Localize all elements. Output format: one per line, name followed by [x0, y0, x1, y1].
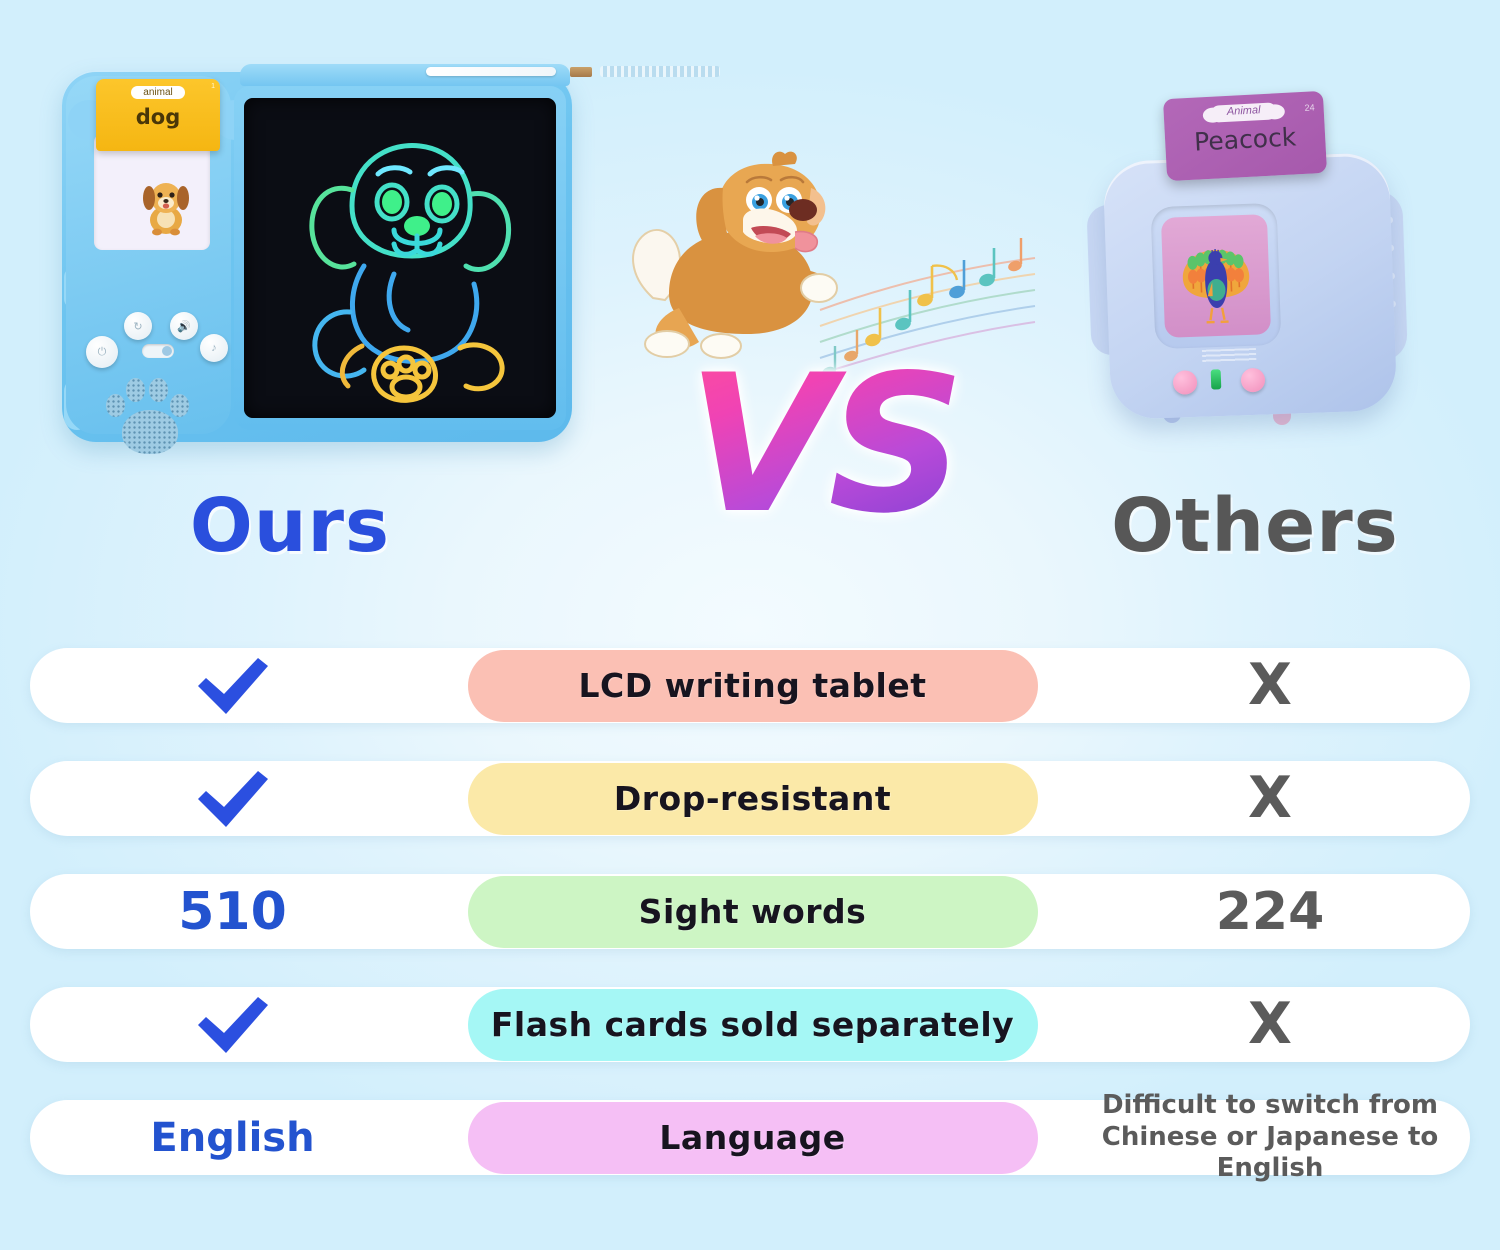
x-icon: X: [1248, 996, 1292, 1053]
paw-speaker-icon: [104, 376, 198, 458]
table-row: LCD writing tablet X: [30, 648, 1470, 723]
toy-button-row: ⏻ ↻ 🔊 ♪: [80, 312, 232, 372]
feature-cell: LCD writing tablet: [435, 650, 1070, 722]
power-led-indicator: [1211, 369, 1222, 389]
table-row: English Language Difficult to switch fro…: [30, 1100, 1470, 1175]
others-cell: 224: [1070, 882, 1470, 942]
lcd-dog-drawing: [244, 98, 556, 418]
paw-pad: [122, 410, 178, 454]
card-dog-illustration: [138, 176, 194, 236]
ours-cell: [30, 656, 435, 716]
device-button-right[interactable]: [1241, 368, 1266, 393]
check-icon: [194, 656, 272, 716]
device-screen-frame: [1151, 203, 1282, 349]
table-row: Drop-resistant X: [30, 761, 1470, 836]
lock-slider[interactable]: [142, 344, 174, 358]
lcd-screen[interactable]: [244, 98, 556, 418]
feature-cell: Drop-resistant: [435, 763, 1070, 835]
repeat-button[interactable]: ↻: [124, 312, 152, 340]
ours-value: 510: [178, 882, 287, 942]
flash-card-category: Animal: [1210, 103, 1277, 118]
comparison-infographic: 1 animal dog ⏻ ↻ 🔊 ♪: [0, 0, 1500, 1250]
table-row: Flash cards sold separately X: [30, 987, 1470, 1062]
paw-toe: [106, 394, 125, 417]
others-cell: Difficult to switch from Chinese or Japa…: [1070, 1090, 1470, 1185]
check-icon: [194, 769, 272, 829]
x-icon: X: [1248, 657, 1292, 714]
feature-pill: Flash cards sold separately: [468, 989, 1038, 1061]
vs-label: VS: [673, 345, 973, 545]
others-cell: X: [1070, 657, 1470, 714]
mode-button[interactable]: ♪: [200, 334, 228, 362]
ours-cell: [30, 769, 435, 829]
stylus-tray: [240, 64, 570, 86]
stylus-pen[interactable]: [426, 67, 556, 76]
power-button[interactable]: ⏻: [86, 336, 118, 368]
flash-card-category: animal: [131, 86, 184, 99]
volume-button[interactable]: 🔊: [170, 312, 198, 340]
tray-ridges: [600, 66, 720, 77]
paw-toe: [126, 378, 145, 402]
peacock-illustration: [1161, 214, 1271, 338]
feature-pill: Drop-resistant: [468, 763, 1038, 835]
others-label: Others: [1090, 483, 1420, 569]
feature-cell: Sight words: [435, 876, 1070, 948]
ours-label: Ours: [150, 483, 430, 569]
feature-pill: Sight words: [468, 876, 1038, 948]
others-value: 224: [1216, 882, 1325, 942]
device-screen: [1161, 214, 1271, 338]
check-icon: [194, 995, 272, 1055]
ours-cell: English: [30, 1115, 435, 1161]
table-row: 510 Sight words 224: [30, 874, 1470, 949]
feature-pill: LCD writing tablet: [468, 650, 1038, 722]
flash-card-number: 24: [1304, 102, 1315, 113]
paw-toe: [170, 394, 189, 417]
comparison-table: LCD writing tablet X Drop-resistant X: [0, 648, 1500, 1213]
toy-left-panel: 1 animal dog ⏻ ↻ 🔊 ♪: [66, 76, 231, 434]
ours-value: English: [150, 1115, 314, 1161]
ours-cell: 510: [30, 882, 435, 942]
x-icon: X: [1248, 770, 1292, 827]
feature-pill: Language: [468, 1102, 1038, 1174]
device-control-row: [1172, 361, 1283, 399]
flash-card-slot: [94, 134, 210, 250]
vs-graphic: VS: [615, 140, 1045, 560]
others-cell: X: [1070, 996, 1470, 1053]
flash-card: 24 Animal Peacock: [1163, 91, 1327, 181]
others-cell: X: [1070, 770, 1470, 827]
flash-card-word: dog: [96, 105, 220, 129]
flash-card-number: 1: [211, 83, 215, 90]
flash-card-cloud-icon: Animal: [1210, 102, 1277, 122]
feature-cell: Flash cards sold separately: [435, 989, 1070, 1061]
paw-toe: [149, 378, 168, 402]
device-button-left[interactable]: [1173, 370, 1198, 395]
ours-cell: [30, 995, 435, 1055]
speaker-grille: [1202, 348, 1256, 364]
feature-cell: Language: [435, 1102, 1070, 1174]
others-product-image: 24 Animal Peacock: [1085, 95, 1425, 435]
others-value: Difficult to switch from Chinese or Japa…: [1070, 1090, 1470, 1185]
flash-card-word: Peacock: [1165, 121, 1326, 158]
stylus-grip: [570, 67, 592, 77]
flash-card: 1 animal dog: [96, 79, 220, 151]
ours-product-image: 1 animal dog ⏻ ↻ 🔊 ♪: [62, 58, 572, 448]
product-showcase: 1 animal dog ⏻ ↻ 🔊 ♪: [0, 0, 1500, 620]
